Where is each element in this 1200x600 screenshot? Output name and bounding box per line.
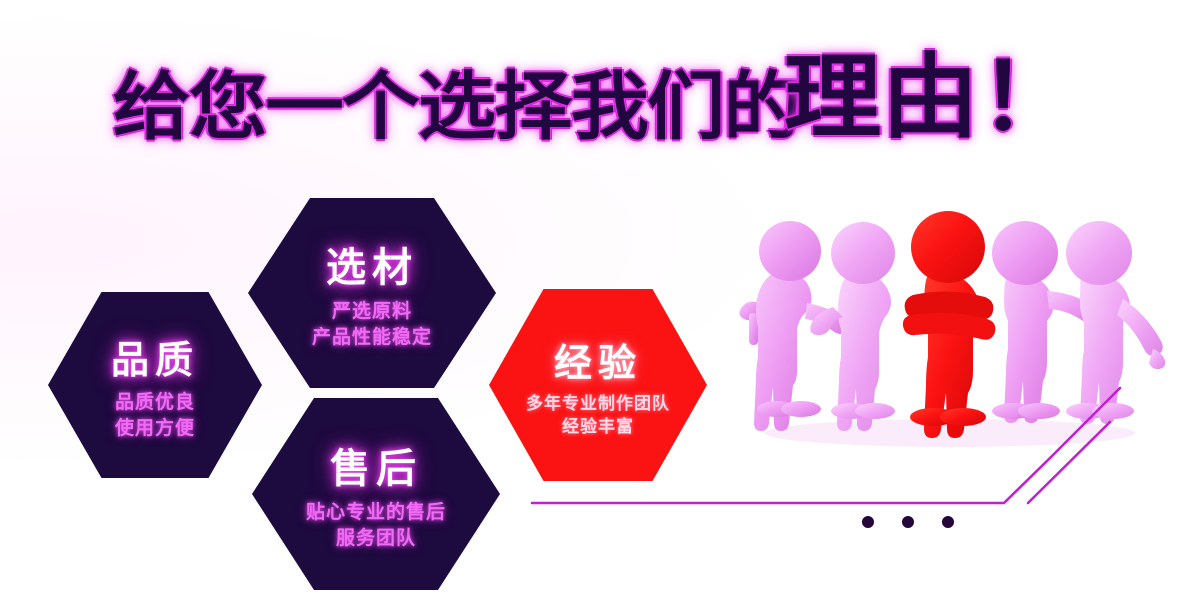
figure-2 (810, 222, 895, 431)
hex-subtitle-quality: 品质优良 使用方便 (115, 390, 195, 441)
hex-card-material[interactable]: 选材 严选原料 产品性能稳定 (248, 198, 496, 388)
hex-subtitle-line: 贴心专业的售后 (306, 500, 446, 526)
hex-title-service: 售后 (330, 436, 422, 494)
hex-card-service[interactable]: 售后 贴心专业的售后 服务团队 (252, 398, 500, 590)
hex-subtitle-material: 严选原料 产品性能稳定 (312, 299, 432, 350)
hex-card-quality[interactable]: 品质 品质优良 使用方便 (48, 292, 262, 478)
team-illustration (735, 195, 1185, 465)
hex-subtitle-line: 产品性能稳定 (312, 325, 432, 351)
hex-subtitle-line: 多年专业制作团队 (526, 393, 670, 416)
headline-accent: 理由！ (784, 52, 1077, 144)
hex-title-quality: 品质 (111, 329, 199, 384)
hex-subtitle-service: 贴心专业的售后 服务团队 (306, 500, 446, 551)
decorative-dot (942, 516, 954, 528)
hex-title-experience: 经验 (554, 332, 642, 387)
promo-banner: 给您一个选择我们的理由！ 品质 品质优良 使用方便 选材 严选原料 产品性能稳定… (0, 0, 1200, 600)
hex-subtitle-line: 使用方便 (115, 416, 195, 442)
decorative-dot (902, 516, 914, 528)
decorative-diagonal-line (1028, 422, 1110, 503)
hex-subtitle-line: 服务团队 (306, 526, 446, 552)
figure-3-highlight (903, 211, 995, 438)
decorative-dot (862, 516, 874, 528)
hex-subtitle-line: 品质优良 (115, 390, 195, 416)
decorative-line-group (520, 430, 1200, 600)
hex-subtitle-line: 严选原料 (312, 299, 432, 325)
hex-title-material: 选材 (326, 235, 418, 293)
